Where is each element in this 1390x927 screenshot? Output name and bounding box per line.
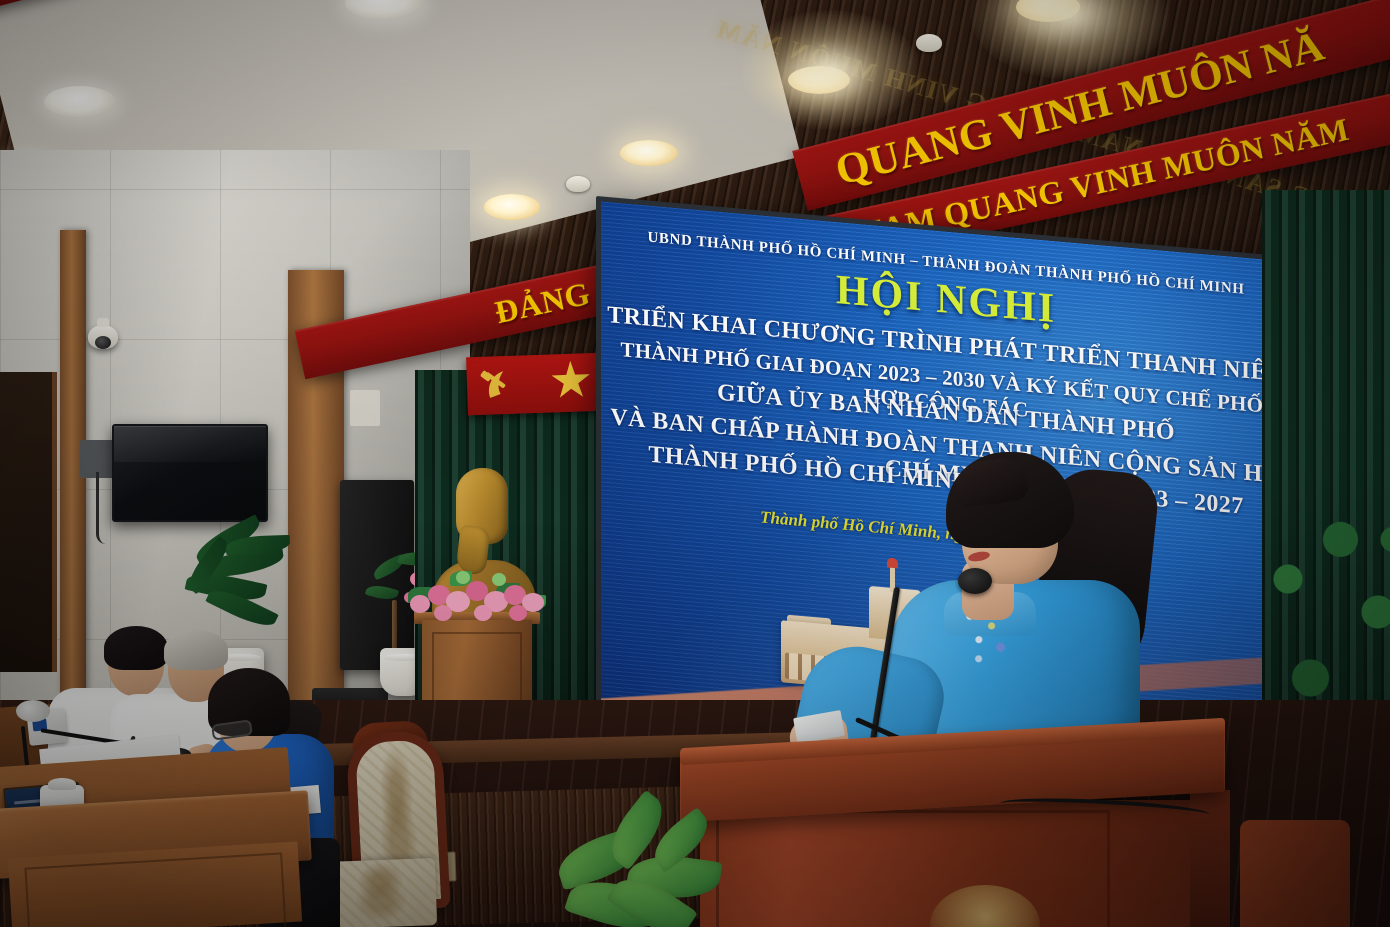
ceiling-downlight [484, 194, 540, 220]
person-hair [104, 626, 168, 670]
gold-star-icon [550, 360, 591, 401]
chair-seat-pattern [325, 858, 437, 927]
hammer-and-sickle-icon [480, 363, 523, 406]
dome-security-camera [88, 325, 118, 349]
tv-cable [96, 472, 106, 544]
podium-microphone-head [958, 568, 992, 594]
wall-mounted-box [350, 390, 380, 426]
press-microphone-head [16, 700, 50, 722]
wall-mounted-tv [112, 424, 268, 522]
doorway [0, 372, 57, 672]
smoke-detector [566, 176, 590, 192]
armchair-right [1240, 820, 1350, 927]
recessed-downlight [44, 86, 116, 118]
communist-party-flag-plaque [466, 353, 606, 416]
ceiling-downlight [620, 140, 678, 166]
smoke-detector [916, 34, 942, 52]
person-hair-grey [164, 630, 228, 670]
conference-hall-photo: ĐẢNG CỘNG SẢN VIỆT NAM QUANG VINH MUÔN N… [0, 0, 1390, 927]
ceiling-downlight [788, 66, 850, 94]
tv-screen-reflection [114, 426, 266, 462]
flower-arrangement [404, 565, 554, 623]
carved-armchair-seat [325, 858, 437, 927]
